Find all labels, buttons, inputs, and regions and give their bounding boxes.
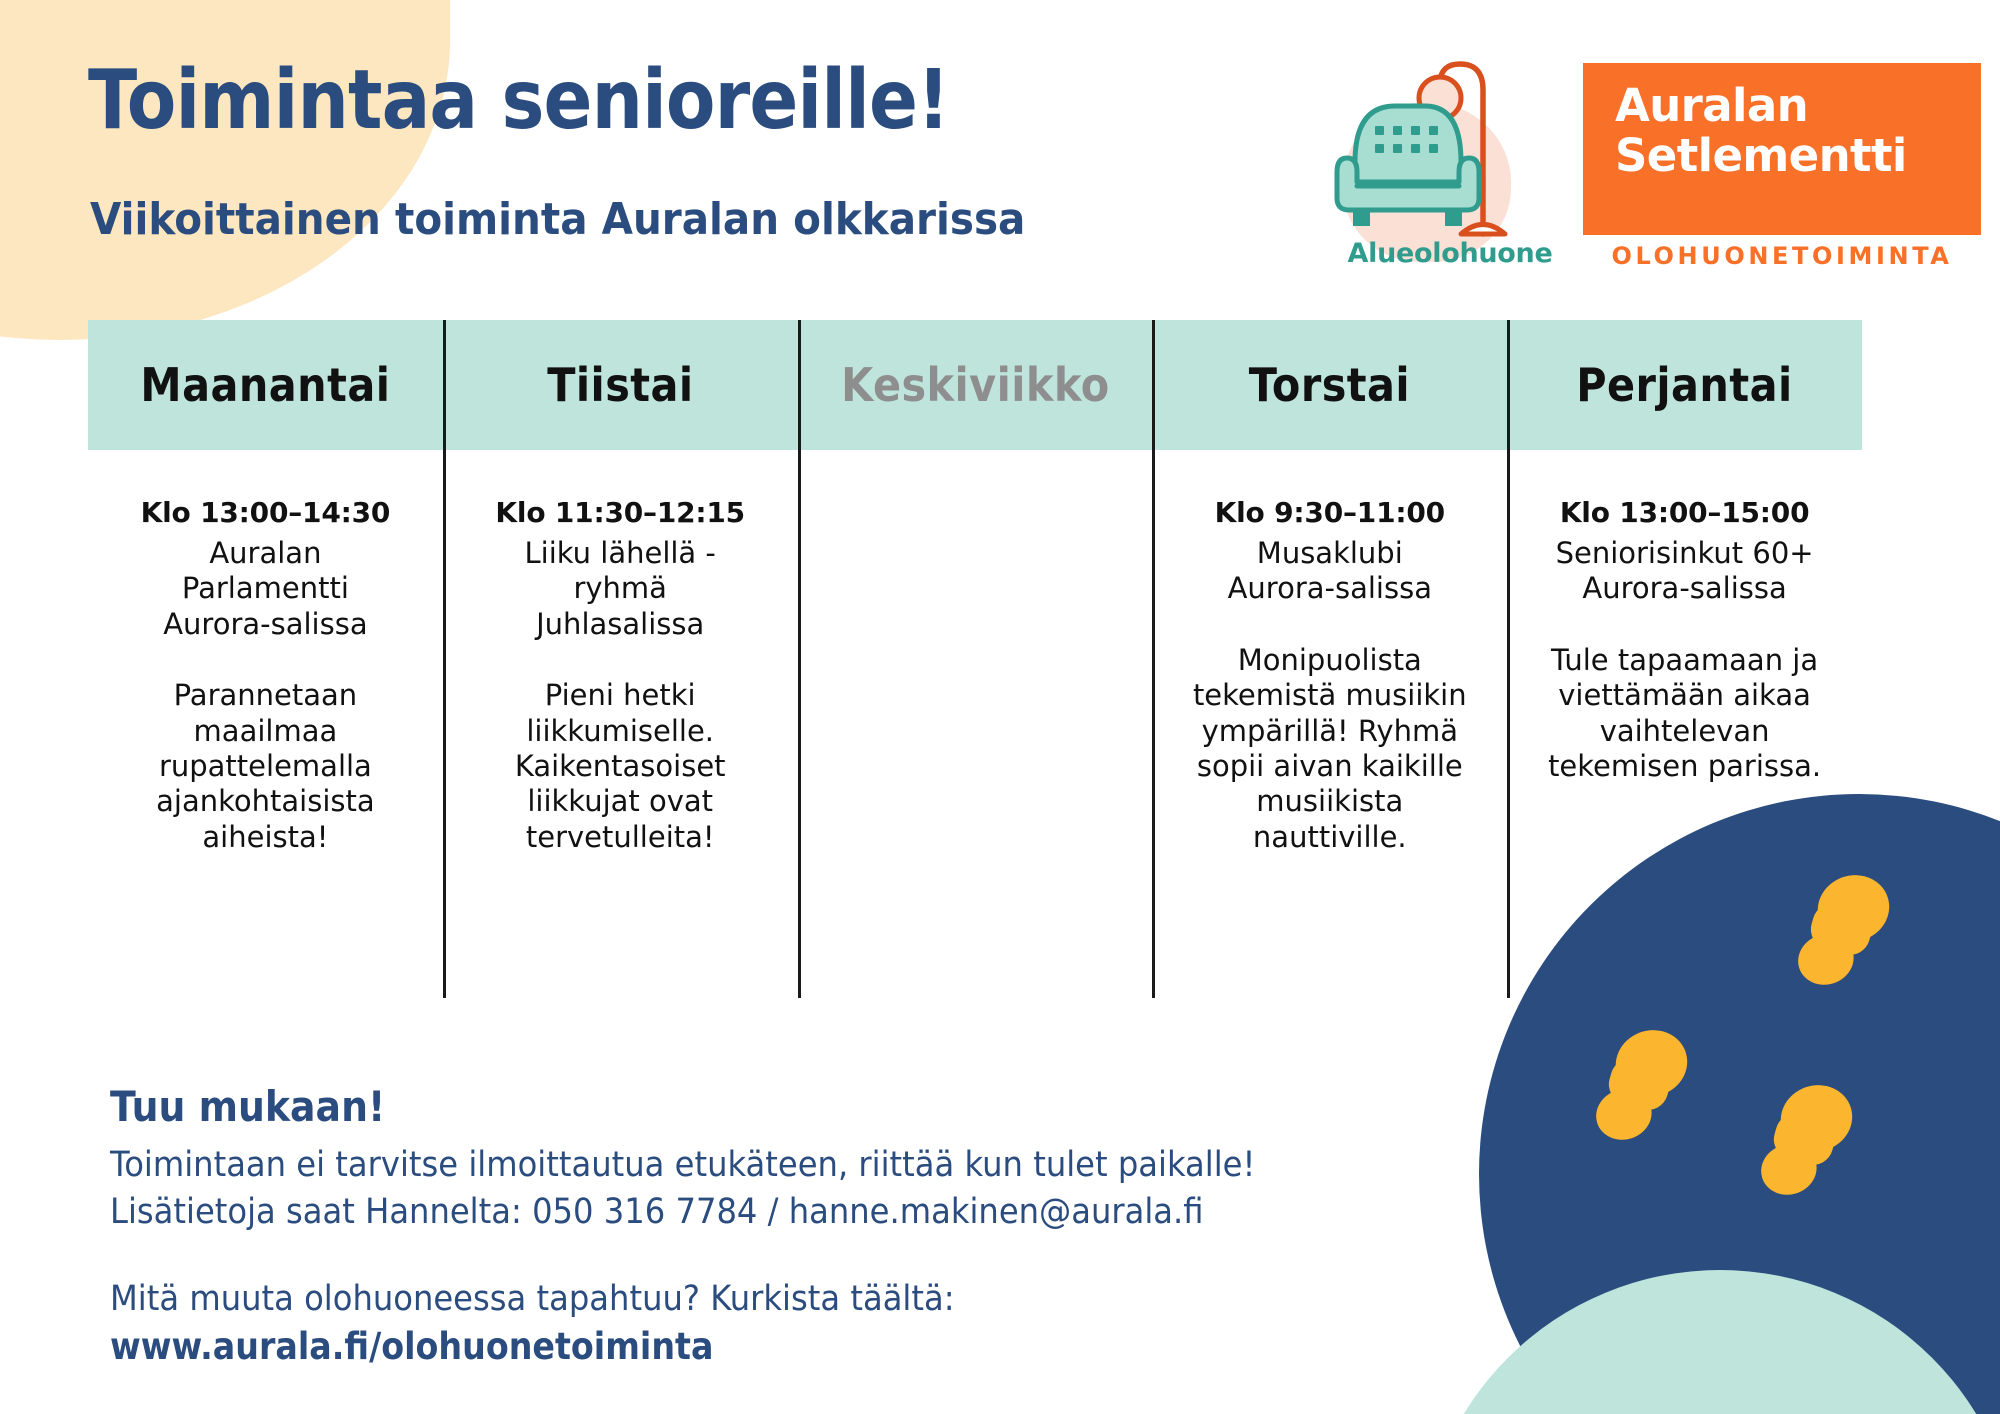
event-location-tiistai: Liiku lähellä - ryhmä Juhlasalissa [469, 536, 772, 642]
day-column-tiistai: Klo 11:30–12:15Liiku lähellä - ryhmä Juh… [443, 450, 798, 1010]
day-header-tiistai: Tiistai [461, 320, 780, 450]
logo-lockup: Alueolohuone Auralan Setlementti OLOHUON… [1325, 40, 1985, 285]
event-time-tiistai: Klo 11:30–12:15 [469, 496, 772, 529]
poster-root: Toimintaa senioreille! Viikoittainen toi… [0, 0, 2000, 1414]
column-divider [1507, 320, 1510, 998]
day-column-keskiviikko [798, 450, 1153, 1010]
footer-spacer [110, 1236, 1460, 1276]
column-divider [1152, 320, 1155, 998]
org-name-line1: Auralan [1615, 81, 1907, 131]
event-location-torstai: Musaklubi Aurora-salissa [1178, 536, 1481, 607]
yellow-footprint-decoration-3 [1740, 1075, 1879, 1214]
org-name-line2: Setlementti [1615, 131, 1907, 181]
footer-line-contact: Lisätietoja saat Hannelta: 050 316 7784 … [110, 1189, 1352, 1236]
event-description-tiistai: Pieni hetki liikkumiselle. Kaikentasoise… [469, 678, 772, 855]
day-column-torstai: Klo 9:30–11:00Musaklubi Aurora-salissaMo… [1152, 450, 1507, 1010]
event-location-perjantai: Seniorisinkut 60+ Aurora-salissa [1533, 536, 1836, 607]
footer-line-registration: Toimintaan ei tarvitse ilmoittautua etuk… [110, 1142, 1352, 1189]
poster-footer: Tuu mukaan! Toimintaan ei tarvitse ilmoi… [110, 1082, 1460, 1368]
yellow-footprint-decoration-2 [1575, 1020, 1714, 1159]
schedule-header-row: MaanantaiTiistaiKeskiviikkoTorstaiPerjan… [88, 320, 1862, 450]
day-header-maanantai: Maanantai [106, 320, 425, 450]
event-time-maanantai: Klo 13:00–14:30 [114, 496, 417, 529]
sofa-and-lamp-icon [1333, 50, 1573, 245]
event-time-perjantai: Klo 13:00–15:00 [1533, 496, 1836, 529]
olohuonetoiminta-tagline: OLOHUONETOIMINTA [1583, 242, 1981, 270]
event-description-maanantai: Parannetaan maailmaa rupattelemalla ajan… [114, 678, 417, 855]
alueolohuone-logo: Alueolohuone [1325, 40, 1575, 285]
footer-heading: Tuu mukaan! [110, 1082, 1325, 1131]
event-time-torstai: Klo 9:30–11:00 [1178, 496, 1481, 529]
day-column-maanantai: Klo 13:00–14:30Auralan Parlamentti Auror… [88, 450, 443, 1010]
column-divider [443, 320, 446, 998]
event-description-perjantai: Tule tapaamaan ja viettämään aikaa vaiht… [1533, 643, 1836, 785]
footer-website-url[interactable]: www.aurala.fi/olohuonetoiminta [110, 1325, 1325, 1368]
org-name: Auralan Setlementti [1615, 81, 1907, 182]
day-header-perjantai: Perjantai [1525, 320, 1844, 450]
day-column-perjantai: Klo 13:00–15:00Seniorisinkut 60+ Aurora-… [1507, 450, 1862, 1010]
footer-line-more-info: Mitä muuta olohuoneessa tapahtuu? Kurkis… [110, 1276, 1352, 1323]
day-header-torstai: Torstai [1170, 320, 1489, 450]
page-title: Toimintaa senioreille! [88, 60, 949, 142]
event-description-torstai: Monipuolista tekemistä musiikin ympärill… [1178, 643, 1481, 855]
column-divider [798, 320, 801, 998]
schedule-body-row: Klo 13:00–14:30Auralan Parlamentti Auror… [88, 450, 1862, 1010]
event-location-maanantai: Auralan Parlamentti Aurora-salissa [114, 536, 417, 642]
weekly-schedule-table: MaanantaiTiistaiKeskiviikkoTorstaiPerjan… [88, 320, 1862, 1010]
auralan-setlementti-logo: Auralan Setlementti [1583, 63, 1981, 235]
page-subtitle: Viikoittainen toiminta Auralan olkkariss… [90, 198, 1025, 242]
day-header-keskiviikko: Keskiviikko [815, 320, 1134, 450]
alueolohuone-label: Alueolohuone [1325, 238, 1575, 269]
